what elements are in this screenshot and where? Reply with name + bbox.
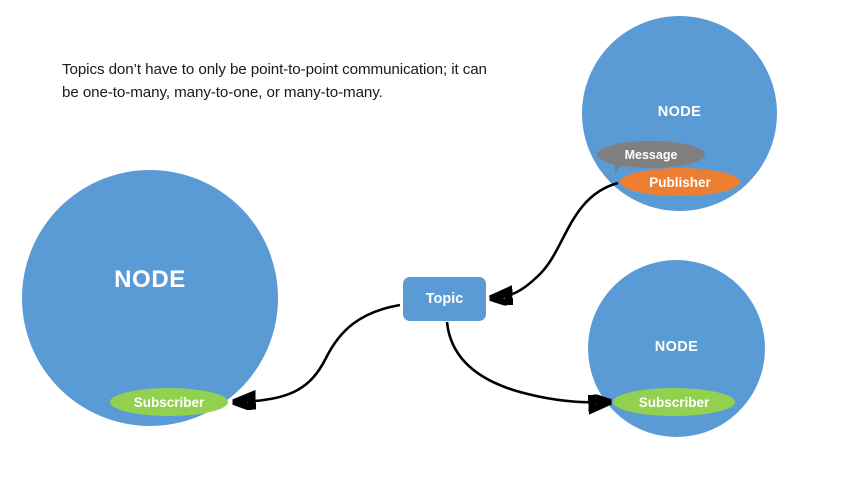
- node-left-label: NODE: [22, 266, 278, 294]
- node-bottom-right-label: NODE: [588, 339, 765, 355]
- subscriber-ellipse-left[interactable]: Subscriber: [110, 388, 228, 416]
- caption-text: Topics don’t have to only be point-to-po…: [62, 58, 492, 104]
- diagram-canvas: Topics don’t have to only be point-to-po…: [0, 0, 854, 480]
- arrow-topic-to-subscriber-right: [447, 322, 608, 402]
- publisher-ellipse[interactable]: Publisher: [620, 168, 740, 196]
- subscriber-ellipse-right[interactable]: Subscriber: [613, 388, 735, 416]
- message-callout[interactable]: Message: [597, 141, 705, 168]
- arrow-publisher-to-topic: [493, 183, 618, 298]
- node-circle-left: NODE: [22, 170, 278, 426]
- topic-box[interactable]: Topic: [403, 277, 486, 321]
- node-top-right-label: NODE: [582, 104, 777, 120]
